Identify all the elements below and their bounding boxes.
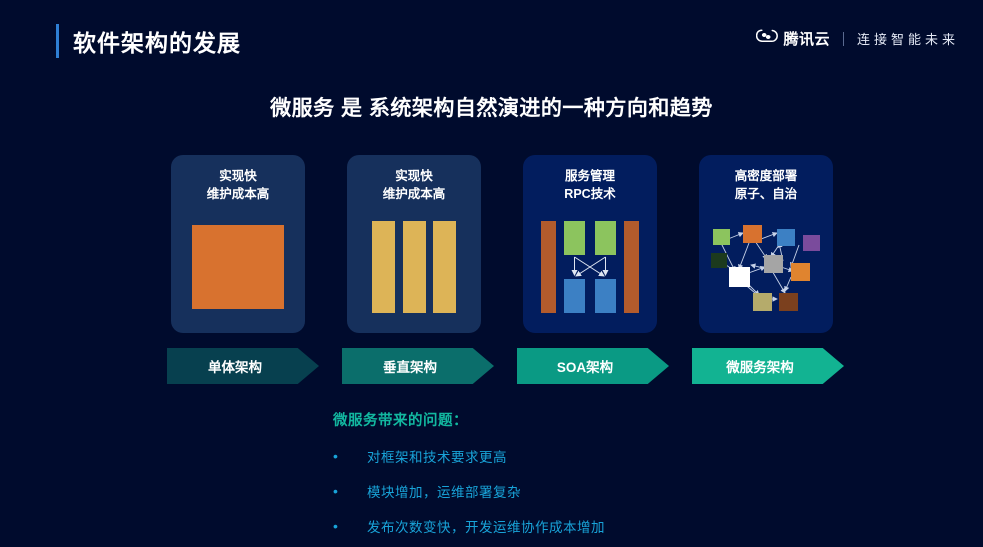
list-item-label: 对框架和技术要求更高	[367, 446, 507, 466]
chevron-vertical-label: 垂直架构	[383, 356, 437, 376]
page-title-text: 软件架构的发展	[73, 24, 241, 58]
soa-arrows	[523, 219, 657, 323]
card-soa[interactable]: 服务管理 RPC技术	[523, 155, 657, 333]
problems-heading: 微服务带来的问题：	[333, 409, 893, 430]
card-soa-title: 服务管理 RPC技术	[523, 167, 657, 203]
card-monolith-art	[171, 219, 305, 323]
card-vertical-line1: 实现快	[347, 167, 481, 185]
card-soa-line2: RPC技术	[523, 185, 657, 203]
card-soa-art	[523, 219, 657, 323]
mesh-node-green	[713, 229, 730, 245]
evolution-chevron-row: 单体架构 垂直架构 SOA架构 微服务架构	[167, 348, 843, 384]
card-monolith-title: 实现快 维护成本高	[171, 167, 305, 203]
monolith-block	[192, 225, 284, 309]
card-microservices-art	[699, 219, 833, 323]
chevron-soa-label: SOA架构	[557, 356, 613, 376]
brand-lockup: 腾讯云 连接智能未来	[756, 28, 959, 49]
list-item-label: 模块增加，运维部署复杂	[367, 481, 521, 501]
card-microservices-line2: 原子、自治	[699, 185, 833, 203]
mesh-node-purple	[803, 235, 820, 251]
card-monolith-line2: 维护成本高	[171, 185, 305, 203]
mesh-node-orange-2	[791, 263, 810, 281]
slide-root: 软件架构的发展 腾讯云 连接智能未来 微服务 是 系统架构自然演进的一种方向和趋…	[0, 0, 983, 547]
card-vertical[interactable]: 实现快 维护成本高	[347, 155, 481, 333]
brand-divider	[843, 32, 844, 46]
title-accent-bar	[56, 24, 59, 58]
mesh-node-darkgreen	[711, 253, 727, 268]
card-vertical-art	[347, 219, 481, 323]
list-item: • 模块增加，运维部署复杂	[333, 481, 893, 501]
card-soa-line1: 服务管理	[523, 167, 657, 185]
problems-list: 微服务带来的问题： • 对框架和技术要求更高 • 模块增加，运维部署复杂 • 发…	[333, 409, 893, 547]
list-item: • 发布次数变快，开发运维协作成本增加	[333, 516, 893, 536]
chevron-vertical[interactable]: 垂直架构	[342, 348, 494, 384]
slide-header: 软件架构的发展 腾讯云 连接智能未来	[0, 0, 983, 76]
card-vertical-title: 实现快 维护成本高	[347, 167, 481, 203]
brand-slogan: 连接智能未来	[857, 29, 959, 48]
card-microservices[interactable]: 高密度部署 原子、自治	[699, 155, 833, 333]
list-item: • 对框架和技术要求更高	[333, 446, 893, 466]
card-vertical-line2: 维护成本高	[347, 185, 481, 203]
bullet-marker-icon: •	[333, 483, 367, 499]
list-item-label: 发布次数变快，开发运维协作成本增加	[367, 516, 605, 536]
card-monolith-line1: 实现快	[171, 167, 305, 185]
mesh-node-khaki	[753, 293, 772, 311]
page-title: 软件架构的发展	[56, 24, 241, 58]
brand-logo: 腾讯云	[756, 28, 830, 49]
vertical-bar-1	[372, 221, 395, 313]
chevron-soa[interactable]: SOA架构	[517, 348, 669, 384]
chevron-monolith-label: 单体架构	[208, 356, 262, 376]
chevron-monolith[interactable]: 单体架构	[167, 348, 319, 384]
mesh-node-orange-1	[743, 225, 762, 243]
card-microservices-line1: 高密度部署	[699, 167, 833, 185]
mesh-node-blue	[777, 229, 795, 246]
chevron-microservices-label: 微服务架构	[726, 356, 794, 376]
architecture-card-row: 实现快 维护成本高 实现快 维护成本高 服务管理 RPC技术	[171, 155, 839, 333]
bullet-marker-icon: •	[333, 518, 367, 534]
mesh-node-grey	[764, 255, 783, 273]
brand-name: 腾讯云	[783, 28, 830, 49]
mesh-node-brown	[779, 293, 798, 311]
mesh-node-white	[729, 267, 750, 287]
card-microservices-title: 高密度部署 原子、自治	[699, 167, 833, 203]
bullet-marker-icon: •	[333, 448, 367, 464]
tencent-cloud-icon	[756, 28, 778, 49]
card-monolith[interactable]: 实现快 维护成本高	[171, 155, 305, 333]
vertical-bar-3	[433, 221, 456, 313]
vertical-bar-2	[403, 221, 426, 313]
slide-subtitle: 微服务 是 系统架构自然演进的一种方向和趋势	[0, 92, 983, 122]
chevron-microservices[interactable]: 微服务架构	[692, 348, 844, 384]
